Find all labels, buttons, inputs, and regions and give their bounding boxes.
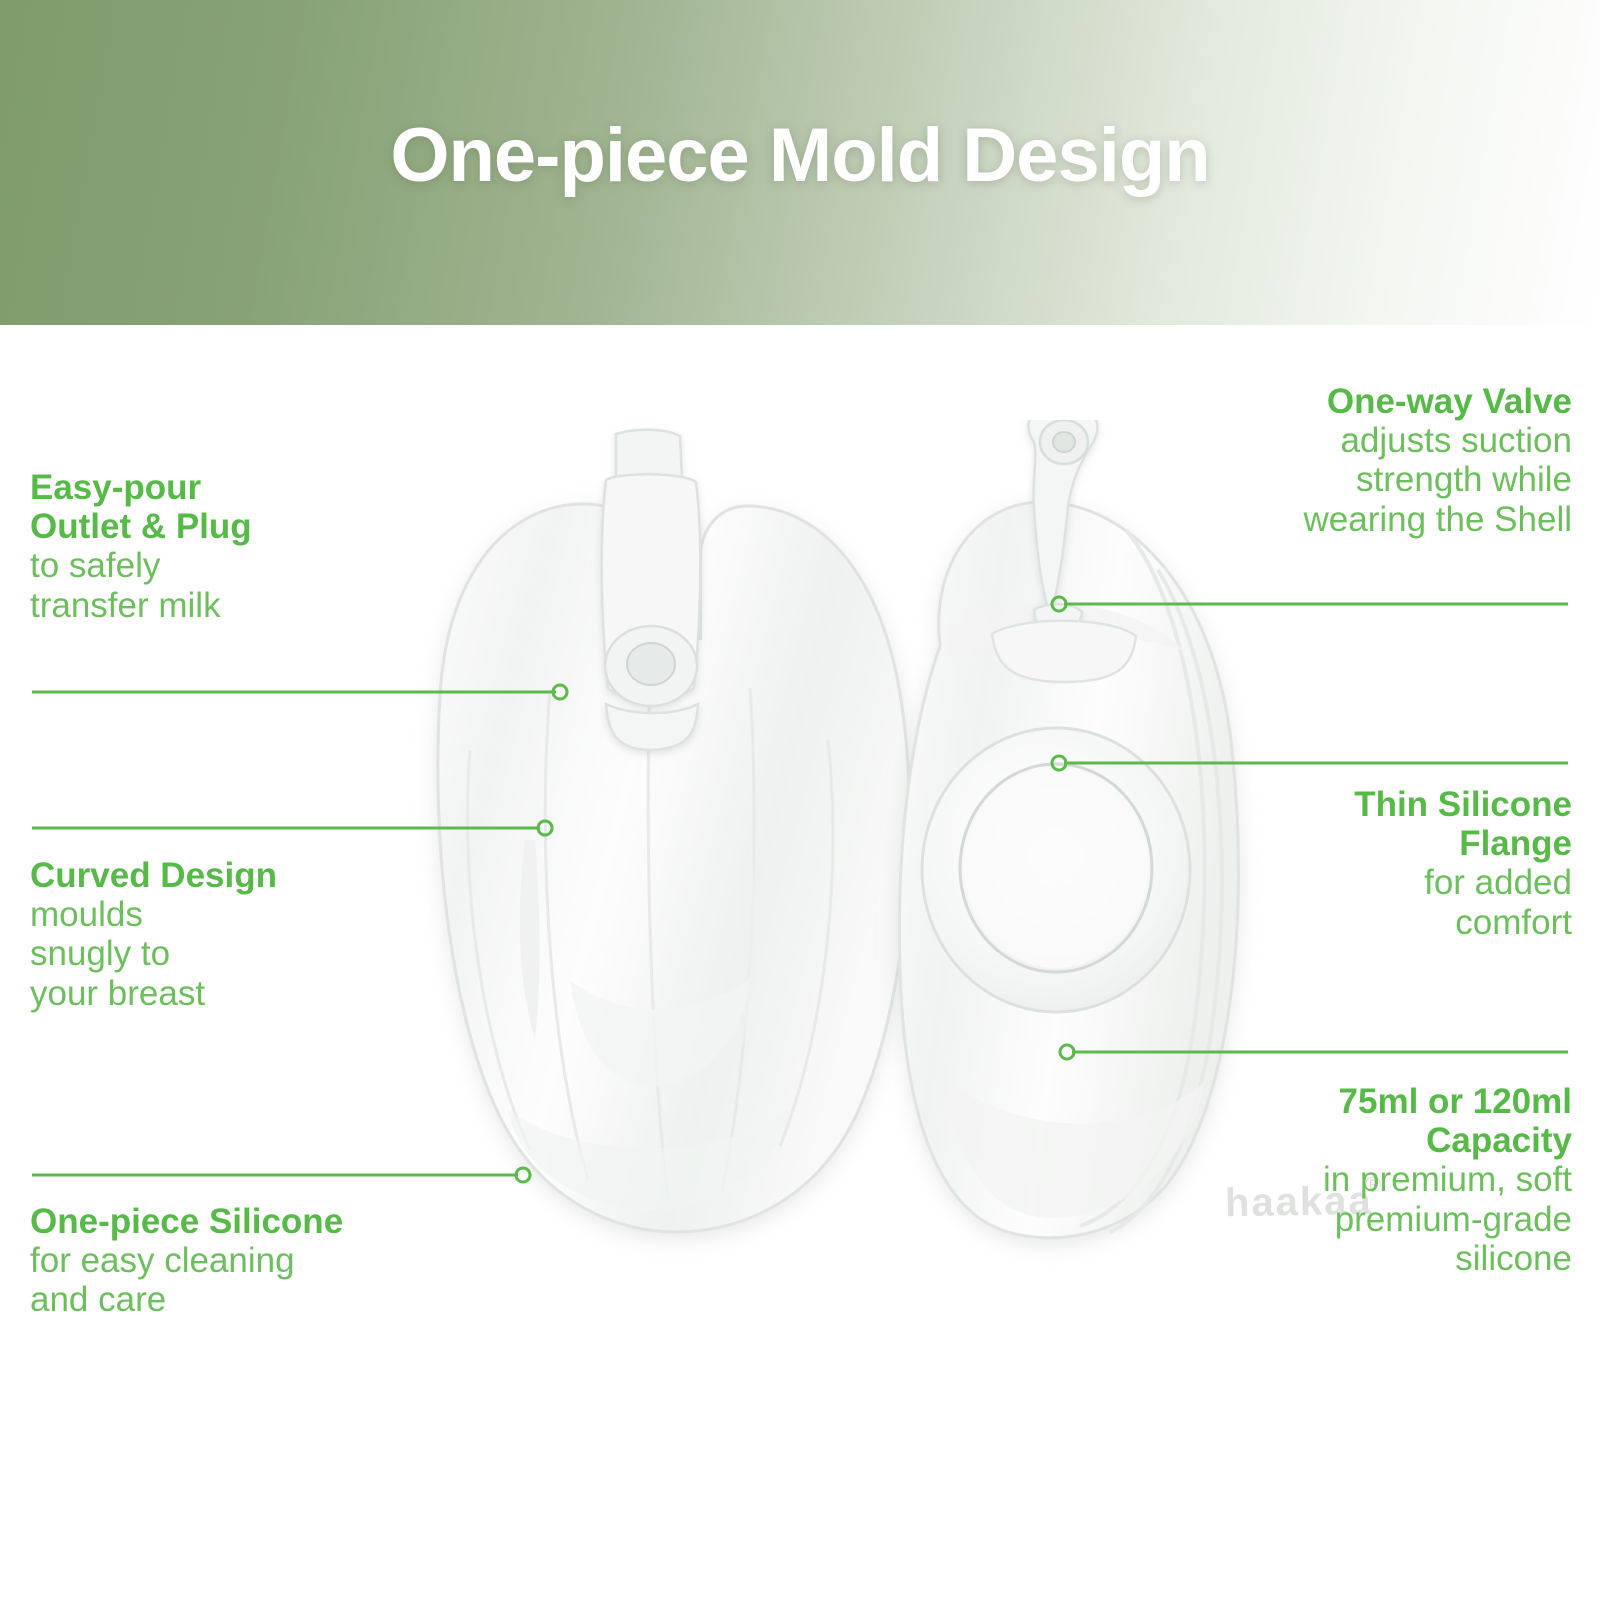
callout-body-line2: strength while	[1142, 460, 1572, 499]
callout-heading-line1: Thin Silicone	[1192, 785, 1572, 824]
callout-heading-line1: Curved Design	[30, 856, 450, 895]
callout-body-line2: comfort	[1192, 903, 1572, 942]
valve-base	[992, 621, 1136, 682]
callout-one-piece-silicone: One-piece Silicone for easy cleaning and…	[30, 1202, 500, 1320]
callout-heading-line1: 75ml or 120ml	[1142, 1082, 1572, 1121]
callout-curved-design: Curved Design moulds snugly to your brea…	[30, 856, 450, 1013]
callout-body-line2: transfer milk	[30, 586, 450, 625]
callout-body-line1: in premium, soft	[1142, 1160, 1572, 1199]
callout-heading-line1: Easy-pour	[30, 468, 450, 507]
callout-body-line2: and care	[30, 1280, 500, 1319]
callout-body-line3: your breast	[30, 974, 450, 1013]
callout-body-line2: snugly to	[30, 934, 450, 973]
callout-heading-line1: One-piece Silicone	[30, 1202, 500, 1241]
callout-body-line1: adjusts suction	[1142, 421, 1572, 460]
header-band: One-piece Mold Design	[0, 0, 1600, 325]
callout-thin-silicone-flange: Thin Silicone Flange for added comfort	[1192, 785, 1572, 942]
callout-capacity: 75ml or 120ml Capacity in premium, soft …	[1142, 1082, 1572, 1278]
callout-body-line1: moulds	[30, 895, 450, 934]
callout-heading-line2: Capacity	[1142, 1121, 1572, 1160]
callout-heading-line2: Outlet & Plug	[30, 507, 450, 546]
callout-easy-pour-outlet-plug: Easy-pour Outlet & Plug to safely transf…	[30, 468, 450, 625]
callout-heading-line1: One-way Valve	[1142, 382, 1572, 421]
callout-heading-line2: Flange	[1192, 824, 1572, 863]
callout-body-line1: to safely	[30, 546, 450, 585]
thin-silicone-flange	[922, 728, 1190, 1012]
callout-one-way-valve: One-way Valve adjusts suction strength w…	[1142, 382, 1572, 539]
callout-body-line1: for added	[1192, 863, 1572, 902]
infographic-page: One-piece Mold Design	[0, 0, 1600, 1600]
callout-body-line3: wearing the Shell	[1142, 500, 1572, 539]
callout-body-line2: premium-grade	[1142, 1200, 1572, 1239]
callout-body-line1: for easy cleaning	[30, 1241, 500, 1280]
page-title: One-piece Mold Design	[0, 112, 1600, 199]
callout-body-line3: silicone	[1142, 1239, 1572, 1278]
